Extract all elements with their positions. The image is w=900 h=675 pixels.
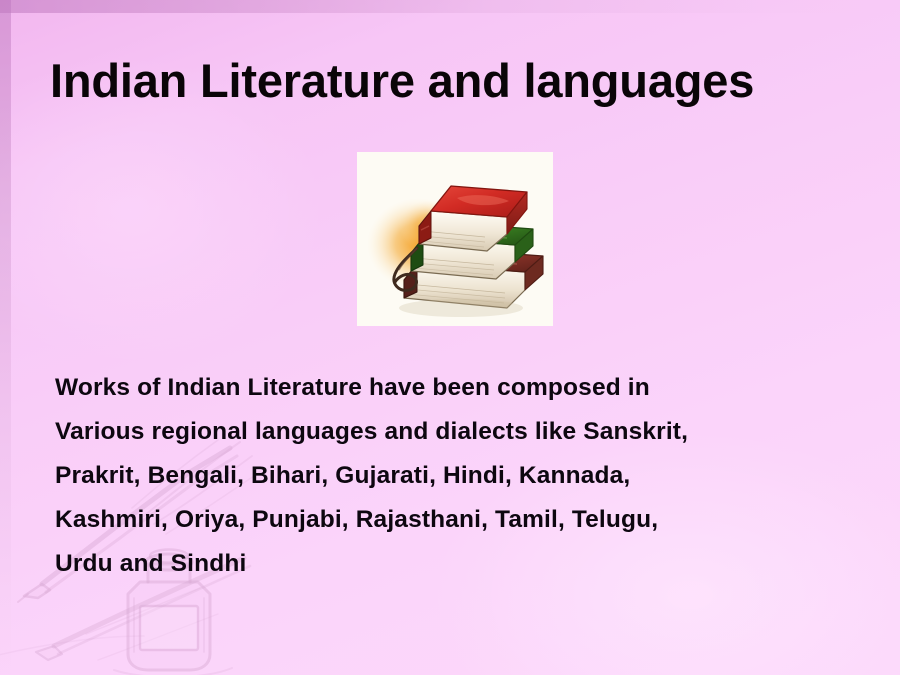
body-line-2: Various regional languages and dialects … [55,410,855,454]
body-line-5: Urdu and Sindhi [55,542,855,586]
slide-title: Indian Literature and languages [50,52,860,110]
slide-top-edge-shadow [0,0,900,13]
body-line-1: Works of Indian Literature have been com… [55,366,855,410]
body-line-4: Kashmiri, Oriya, Punjabi, Rajasthani, Ta… [55,498,855,542]
books-clipart-image [357,152,553,326]
presentation-slide: Indian Literature and languages [0,0,900,675]
body-line-3: Prakrit, Bengali, Bihari, Gujarati, Hind… [55,454,855,498]
slide-body-text: Works of Indian Literature have been com… [55,366,855,586]
slide-left-edge-shadow [0,0,11,675]
